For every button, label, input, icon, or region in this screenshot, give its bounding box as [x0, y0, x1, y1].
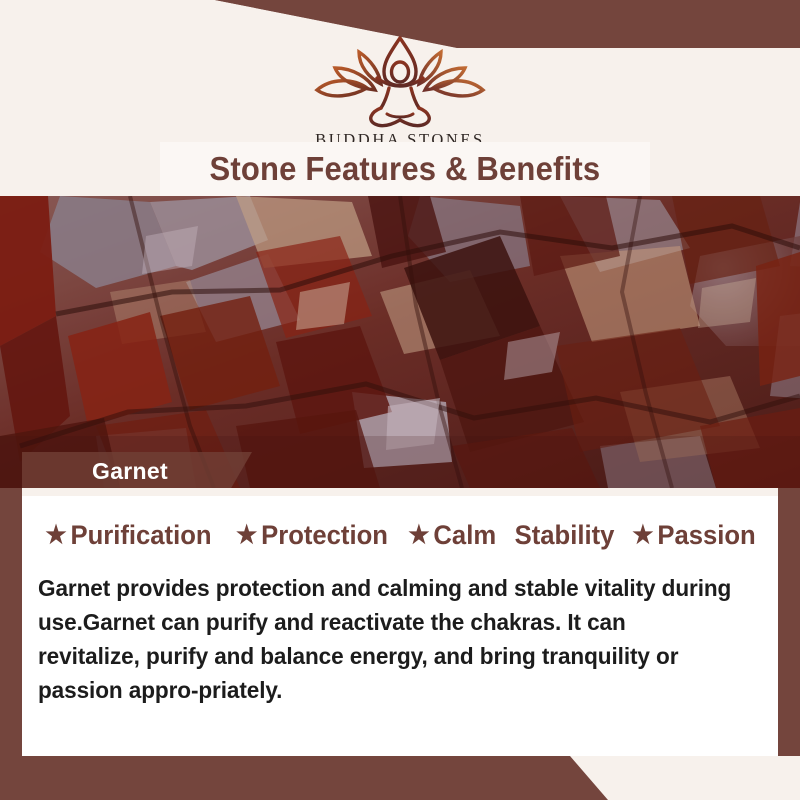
- frame-bottom-band: [0, 756, 800, 800]
- stone-name: Garnet: [92, 458, 168, 485]
- card-top-edge: [22, 488, 778, 496]
- benefit-item-passion: ★ Passion: [632, 520, 755, 551]
- garnet-crystal-cluster-photo: [0, 196, 800, 488]
- star-icon: ★: [236, 523, 257, 548]
- benefit-item-purification: ★ Purification: [45, 520, 211, 551]
- benefit-label: Protection: [261, 520, 388, 551]
- brand-logo: BUDDHA STONES: [0, 34, 800, 150]
- stone-photo: [0, 196, 800, 488]
- content-card: ★ Purification ★ Protection ★ Calm Stabi…: [22, 488, 778, 756]
- star-icon: ★: [45, 523, 66, 548]
- benefit-label: Purification: [70, 520, 211, 551]
- page-title: Stone Features & Benefits: [210, 150, 601, 188]
- stone-info-poster: BUDDHA STONES Stone Features & Benefits: [0, 0, 800, 800]
- star-icon: ★: [632, 523, 653, 548]
- benefit-label: Calm: [433, 520, 496, 551]
- lotus-meditation-figure-icon: [307, 34, 493, 128]
- benefit-item-calm: ★ Calm: [408, 520, 496, 551]
- benefit-label: Stability: [515, 520, 615, 551]
- frame-left-band: [0, 488, 22, 800]
- benefits-row: ★ Purification ★ Protection ★ Calm Stabi…: [22, 520, 778, 551]
- stone-name-bar: Garnet: [22, 452, 252, 490]
- benefit-item-stability: Stability: [515, 520, 615, 551]
- benefit-label: Passion: [658, 520, 756, 551]
- benefit-item-protection: ★ Protection: [236, 520, 388, 551]
- stone-description: Garnet provides protection and calming a…: [38, 571, 733, 707]
- page-title-bar: Stone Features & Benefits: [160, 142, 650, 196]
- star-icon: ★: [408, 523, 429, 548]
